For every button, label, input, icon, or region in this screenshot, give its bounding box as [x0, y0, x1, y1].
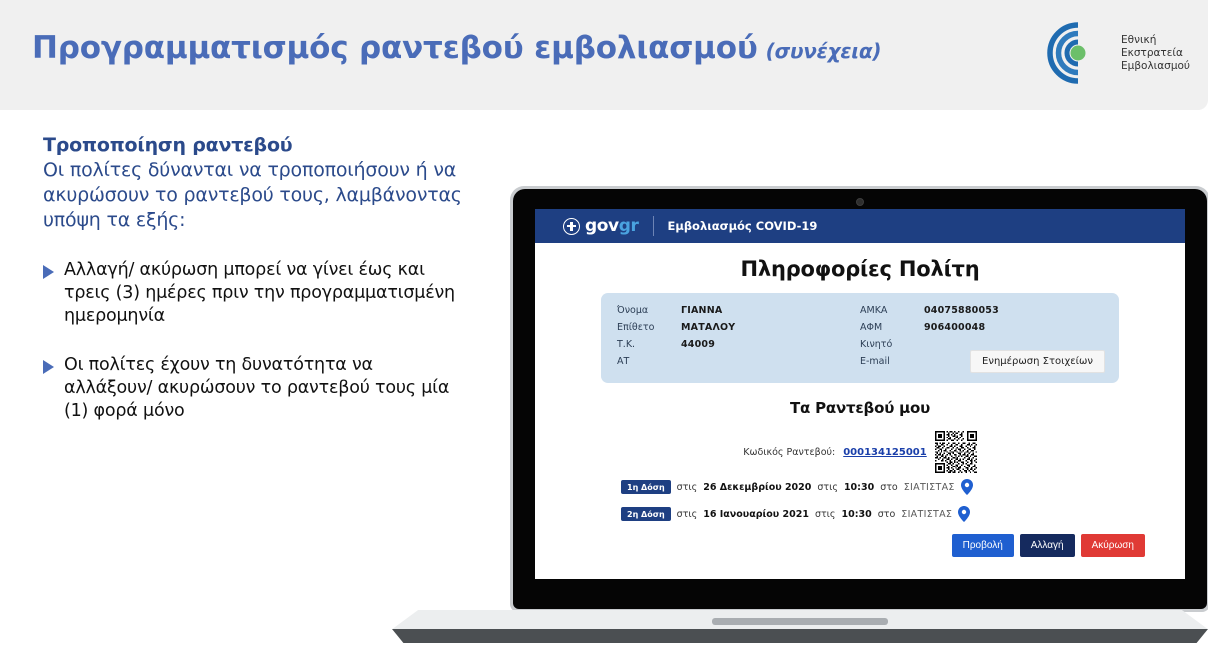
info-label: E-mail — [860, 356, 924, 367]
appointment-list: 1η Δόση στις 26 Δεκεμβρίου 2020 στις 10:… — [621, 479, 1151, 522]
triangle-bullet-icon — [43, 360, 54, 374]
slide-root: Προγραμματισμός ραντεβού εμβολιασμού(συν… — [0, 0, 1208, 670]
govgr-gov-text: gov — [585, 216, 619, 236]
appointment-row-dose-2: 2η Δόση στις 16 Ιανουαρίου 2021 στις 10:… — [621, 506, 1151, 522]
dose-time: 10:30 — [841, 509, 871, 520]
dose-prefix: στις — [677, 509, 698, 520]
info-field: Τ.Κ. 44009 — [617, 339, 860, 350]
info-column-left: Όνομα ΓΙΑΝΝΑ Επίθετο ΜΑΤΑΛΟΥ Τ.Κ. 44009 — [617, 305, 860, 373]
vaccination-campaign-icon — [1045, 20, 1111, 86]
appointment-row-dose-1: 1η Δόση στις 26 Δεκεμβρίου 2020 στις 10:… — [621, 479, 1151, 495]
info-value: 44009 — [681, 339, 715, 350]
govgr-logo[interactable]: govgr — [563, 216, 639, 236]
info-label: Κινητό — [860, 339, 924, 350]
appointment-code-value[interactable]: 000134125001 — [843, 447, 927, 458]
info-field: ΑΜΚΑ 04075880053 — [860, 305, 1103, 316]
laptop-mockup: govgr Εμβολιασμός COVID-19 Πληροφορίες Π… — [392, 186, 1208, 670]
dose-mid: στις — [815, 509, 836, 520]
change-button[interactable]: Αλλαγή — [1020, 534, 1075, 557]
info-label: Επίθετο — [617, 322, 681, 333]
dose-date: 26 Δεκεμβρίου 2020 — [703, 482, 811, 493]
brand-text: Εθνική Εκστρατεία Εμβολιασμού — [1121, 34, 1190, 73]
update-details-button[interactable]: Ενημέρωση Στοιχείων — [970, 350, 1105, 373]
info-value: ΓΙΑΝΝΑ — [681, 305, 722, 316]
appointment-code-label: Κωδικός Ραντεβού: — [743, 447, 835, 458]
brand-line-1: Εθνική — [1121, 34, 1190, 47]
view-button[interactable]: Προβολή — [952, 534, 1014, 557]
laptop-trackpad-notch — [712, 618, 888, 625]
info-field: Κινητό — [860, 339, 1103, 350]
map-pin-icon[interactable] — [958, 506, 970, 522]
appointments-heading: Τα Ραντεβού μου — [569, 399, 1151, 417]
dose-badge: 1η Δόση — [621, 480, 671, 494]
laptop-foot — [392, 629, 1208, 643]
info-value: 04075880053 — [924, 305, 999, 316]
dose-badge: 2η Δόση — [621, 507, 671, 521]
greek-emblem-icon — [563, 218, 580, 235]
dose-at: στο — [878, 509, 896, 520]
info-field: Όνομα ΓΙΑΝΝΑ — [617, 305, 860, 316]
info-value: ΜΑΤΑΛΟΥ — [681, 322, 735, 333]
info-label: ΑΜΚΑ — [860, 305, 924, 316]
dose-time: 10:30 — [844, 482, 874, 493]
webcam-icon — [856, 198, 864, 206]
map-pin-icon[interactable] — [961, 479, 973, 495]
app-topbar: govgr Εμβολιασμός COVID-19 — [535, 209, 1185, 243]
govgr-wordmark: govgr — [585, 216, 639, 236]
triangle-bullet-icon — [43, 265, 54, 279]
info-field: ΑΤ — [617, 356, 860, 367]
page-title-suffix: (συνέχεια) — [766, 39, 882, 63]
info-label: Τ.Κ. — [617, 339, 681, 350]
dose-prefix: στις — [677, 482, 698, 493]
action-buttons: Προβολή Αλλαγή Ακύρωση — [569, 534, 1145, 557]
dose-location: ΣΙΑΤΙΣΤΑΣ — [904, 482, 955, 493]
app-content: Πληροφορίες Πολίτη Όνομα ΓΙΑΝΝΑ Επίθετο — [535, 243, 1185, 579]
citizen-info-card: Όνομα ΓΙΑΝΝΑ Επίθετο ΜΑΤΑΛΟΥ Τ.Κ. 44009 — [601, 293, 1119, 383]
qr-code-icon — [935, 431, 977, 473]
brand-line-2: Εκστρατεία — [1121, 47, 1190, 60]
page-title: Προγραμματισμός ραντεβού εμβολιασμού(συν… — [32, 30, 881, 66]
brand-line-3: Εμβολιασμού — [1121, 60, 1190, 73]
dose-location: ΣΙΑΤΙΣΤΑΣ — [901, 509, 952, 520]
app-name-label: Εμβολιασμός COVID-19 — [668, 219, 818, 233]
brand-logo: Εθνική Εκστρατεία Εμβολιασμού — [1045, 20, 1190, 86]
cancel-button[interactable]: Ακύρωση — [1081, 534, 1145, 557]
info-label: Όνομα — [617, 305, 681, 316]
laptop-bezel: govgr Εμβολιασμός COVID-19 Πληροφορίες Π… — [513, 189, 1207, 609]
page-title-main: Προγραμματισμός ραντεβού εμβολιασμού — [32, 30, 758, 66]
dose-date: 16 Ιανουαρίου 2021 — [703, 509, 809, 520]
section-heading: Τροποποίηση ραντεβού — [43, 134, 463, 156]
citizen-info-heading: Πληροφορίες Πολίτη — [569, 257, 1151, 281]
info-value: 906400048 — [924, 322, 985, 333]
topbar-divider — [653, 216, 654, 236]
info-field: Επίθετο ΜΑΤΑΛΟΥ — [617, 322, 860, 333]
govgr-gr-text: gr — [619, 216, 639, 236]
dose-at: στο — [880, 482, 898, 493]
info-field: ΑΦΜ 906400048 — [860, 322, 1103, 333]
info-label: ΑΤ — [617, 356, 681, 367]
laptop-lid: govgr Εμβολιασμός COVID-19 Πληροφορίες Π… — [510, 186, 1208, 612]
browser-screen: govgr Εμβολιασμός COVID-19 Πληροφορίες Π… — [535, 209, 1185, 579]
dose-mid: στις — [817, 482, 838, 493]
appointment-code-row: Κωδικός Ραντεβού: 000134125001 — [569, 431, 1151, 473]
info-label: ΑΦΜ — [860, 322, 924, 333]
